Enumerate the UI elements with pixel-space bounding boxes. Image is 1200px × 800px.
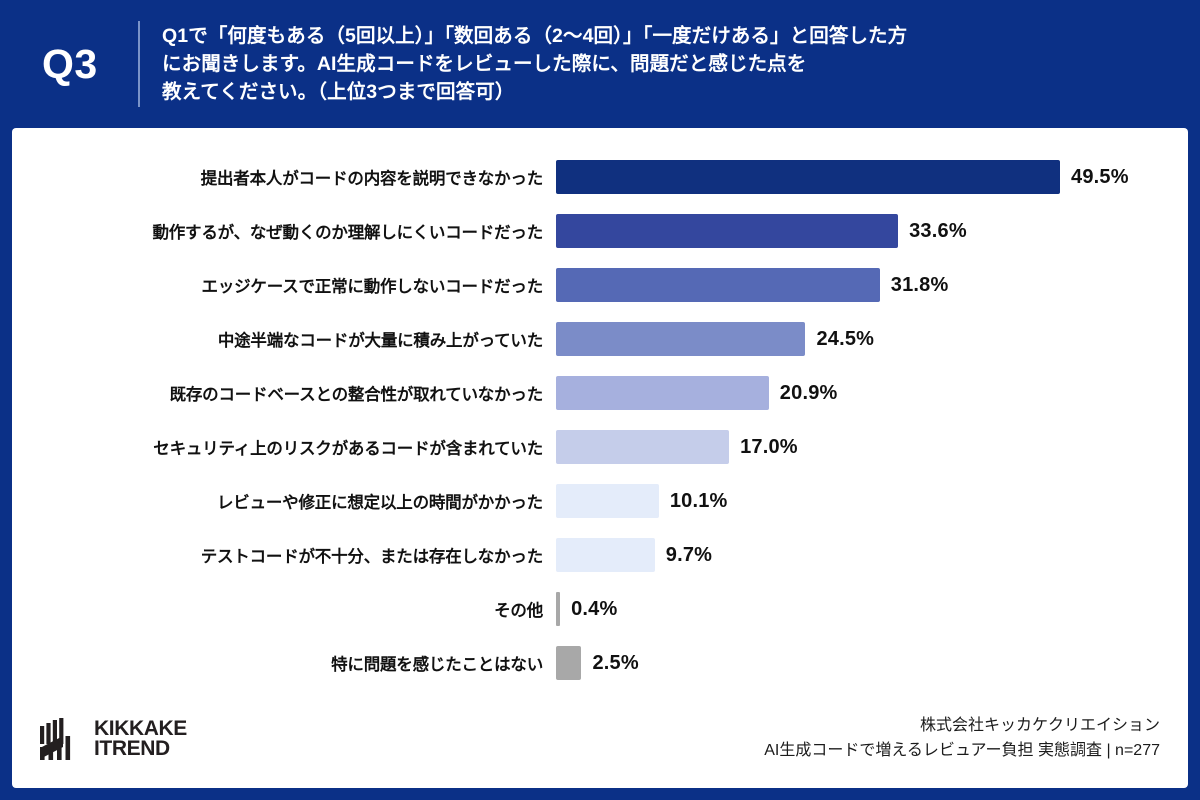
bar-category-label: その他: [12, 597, 556, 621]
bar-category-label: セキュリティ上のリスクがあるコードが含まれていた: [12, 435, 556, 459]
bar-area: 17.0%: [556, 420, 1188, 474]
bar-value-label: 31.8%: [891, 274, 949, 297]
bar: [556, 538, 655, 572]
logo-line-1: KIKKAKE: [94, 719, 187, 739]
question-number: Q3: [42, 44, 138, 85]
chart-row: セキュリティ上のリスクがあるコードが含まれていた17.0%: [12, 420, 1188, 474]
bar-area: 2.5%: [556, 636, 1188, 690]
chart-row: 動作するが、なぜ動くのか理解しにくいコードだった33.6%: [12, 204, 1188, 258]
bar-category-label: エッジケースで正常に動作しないコードだった: [12, 273, 556, 297]
chart-row: 提出者本人がコードの内容を説明できなかった49.5%: [12, 150, 1188, 204]
survey-name: AI生成コードで増えるレビュアー負担 実態調査 | n=277: [764, 739, 1160, 764]
bar-area: 24.5%: [556, 312, 1188, 366]
bar: [556, 322, 805, 356]
bar-area: 31.8%: [556, 258, 1188, 312]
bar-value-label: 20.9%: [780, 382, 838, 405]
chart-row: 特に問題を感じたことはない2.5%: [12, 636, 1188, 690]
bar: [556, 484, 659, 518]
bar: [556, 646, 581, 680]
kikkake-trend-mark-icon: [40, 718, 86, 760]
bar-area: 33.6%: [556, 204, 1188, 258]
logo-line-2: ITREND: [94, 739, 187, 759]
bar-area: 0.4%: [556, 582, 1188, 636]
bar-category-label: 特に問題を感じたことはない: [12, 651, 556, 675]
bar-value-label: 33.6%: [909, 220, 967, 243]
question-line-2: にお聞きします。AI生成コードをレビューした際に、問題だと感じた点を: [162, 50, 907, 78]
chart-row: 既存のコードベースとの整合性が取れていなかった20.9%: [12, 366, 1188, 420]
bar-category-label: 動作するが、なぜ動くのか理解しにくいコードだった: [12, 219, 556, 243]
bar-category-label: 提出者本人がコードの内容を説明できなかった: [12, 165, 556, 189]
bar-category-label: レビューや修正に想定以上の時間がかかった: [12, 489, 556, 513]
bar-category-label: テストコードが不十分、または存在しなかった: [12, 543, 556, 567]
chart-row: エッジケースで正常に動作しないコードだった31.8%: [12, 258, 1188, 312]
bar-value-label: 17.0%: [740, 436, 798, 459]
bar-area: 49.5%: [556, 150, 1188, 204]
chart-row: その他0.4%: [12, 582, 1188, 636]
bar: [556, 214, 898, 248]
content-card: 提出者本人がコードの内容を説明できなかった49.5%動作するが、なぜ動くのか理解…: [12, 128, 1188, 788]
bar-value-label: 10.1%: [670, 490, 728, 513]
bar: [556, 160, 1060, 194]
bar: [556, 592, 560, 626]
infographic-page: Q3 Q1で「何度もある（5回以上）」「数回ある（2〜4回）」「一度だけある」と…: [0, 0, 1200, 800]
bar-chart: 提出者本人がコードの内容を説明できなかった49.5%動作するが、なぜ動くのか理解…: [12, 150, 1188, 710]
question-line-1: Q1で「何度もある（5回以上）」「数回ある（2〜4回）」「一度だけある」と回答し…: [162, 22, 907, 50]
bar-value-label: 0.4%: [571, 598, 617, 621]
question-line-3: 教えてください。（上位3つまで回答可）: [162, 78, 907, 106]
question-text: Q1で「何度もある（5回以上）」「数回ある（2〜4回）」「一度だけある」と回答し…: [162, 22, 907, 107]
bar-value-label: 24.5%: [816, 328, 874, 351]
bar-area: 10.1%: [556, 474, 1188, 528]
chart-row: 中途半端なコードが大量に積み上がっていた24.5%: [12, 312, 1188, 366]
bar: [556, 376, 769, 410]
brand-logo: KIKKAKE ITREND: [40, 718, 187, 760]
header-band: Q3 Q1で「何度もある（5回以上）」「数回ある（2〜4回）」「一度だけある」と…: [0, 0, 1200, 128]
bar-category-label: 中途半端なコードが大量に積み上がっていた: [12, 327, 556, 351]
bar: [556, 430, 729, 464]
footer: KIKKAKE ITREND 株式会社キッカケクリエイション AI生成コードで増…: [12, 696, 1188, 788]
bar-value-label: 49.5%: [1071, 166, 1129, 189]
header-divider: [138, 21, 140, 107]
bar: [556, 268, 880, 302]
attribution: 株式会社キッカケクリエイション AI生成コードで増えるレビュアー負担 実態調査 …: [764, 714, 1160, 764]
bar-category-label: 既存のコードベースとの整合性が取れていなかった: [12, 381, 556, 405]
bar-value-label: 2.5%: [592, 652, 638, 675]
chart-row: レビューや修正に想定以上の時間がかかった10.1%: [12, 474, 1188, 528]
bar-value-label: 9.7%: [666, 544, 712, 567]
company-name: 株式会社キッカケクリエイション: [764, 714, 1160, 739]
chart-row: テストコードが不十分、または存在しなかった9.7%: [12, 528, 1188, 582]
brand-logo-text: KIKKAKE ITREND: [94, 719, 187, 759]
bar-area: 20.9%: [556, 366, 1188, 420]
bar-area: 9.7%: [556, 528, 1188, 582]
